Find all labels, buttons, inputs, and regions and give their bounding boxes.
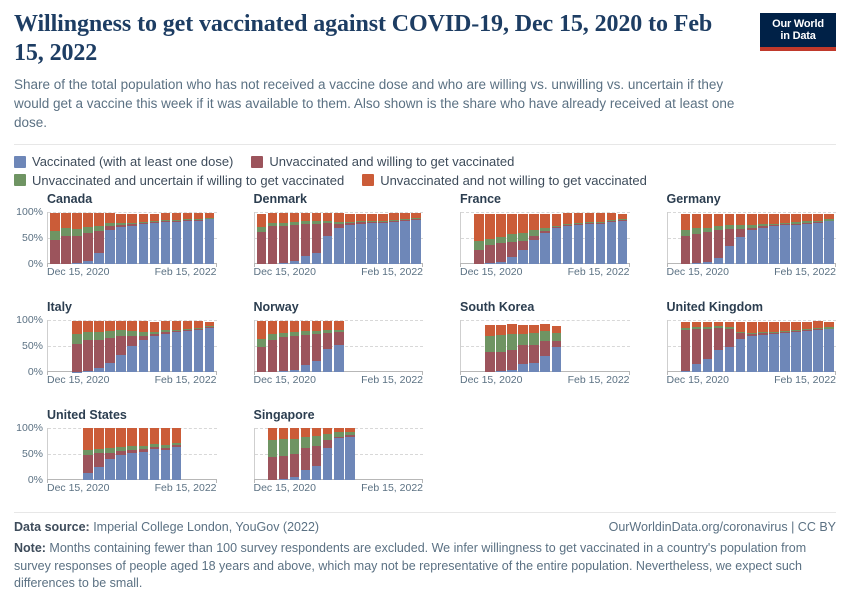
stacked-bar[interactable] [194,212,204,264]
stacked-bar[interactable] [161,320,171,372]
bar-segment-willing [268,340,278,372]
bar-segment-vaccinated [83,473,93,480]
bar-segment-not_willing [83,428,93,450]
bar-segment-vaccinated [323,448,333,480]
empty-bar-slot [585,320,595,372]
stacked-bar[interactable] [802,212,812,264]
y-axis-tick-0: 0% [28,367,43,378]
bar-segment-not_willing [563,213,573,223]
panel-title: United States [47,409,217,424]
stacked-bar[interactable] [290,320,300,372]
bar-segment-willing [301,448,311,470]
panel-title: Denmark [254,193,424,208]
stacked-bar[interactable] [105,212,115,264]
bar-segment-willing [703,232,713,262]
stacked-bar[interactable] [194,320,204,372]
bar-segment-not_willing [161,428,171,445]
bar-segment-not_willing [301,321,311,331]
bar-segment-not_willing [279,213,289,222]
stacked-bar[interactable] [94,212,104,264]
bar-segment-not_willing [802,322,812,329]
bar-segment-vaccinated [780,225,790,264]
empty-bar-slot [618,320,628,372]
stacked-bar[interactable] [540,320,550,372]
panel-title: France [460,193,630,208]
stacked-bar[interactable] [400,212,410,264]
x-axis-label-end: Feb 15, 2022 [774,375,836,386]
bar-segment-vaccinated [105,230,115,264]
bar-group [670,320,835,372]
bar-segment-vaccinated [813,223,823,265]
bar-segment-willing [474,250,484,265]
bar-segment-vaccinated [681,371,691,373]
plot-area [667,320,837,372]
bar-segment-not_willing [813,214,823,221]
stacked-bar[interactable] [356,212,366,264]
bar-segment-vaccinated [72,263,82,264]
stacked-bar[interactable] [703,320,713,372]
bar-segment-vaccinated [150,223,160,264]
bar-segment-not_willing [485,214,495,239]
bar-group [257,428,422,480]
bar-segment-uncertain [72,229,82,236]
plot-area: 100%50%0% [47,428,217,480]
stacked-bar[interactable] [714,212,724,264]
bar-segment-uncertain [518,334,528,344]
stacked-bar[interactable] [507,212,517,264]
bar-segment-vaccinated [824,221,834,264]
x-axis-label-end: Feb 15, 2022 [155,375,217,386]
bar-segment-not_willing [802,214,812,221]
stacked-bar[interactable] [301,212,311,264]
logo-line-2: in Data [762,30,834,42]
bar-segment-vaccinated [345,437,355,481]
bar-segment-not_willing [345,214,355,222]
bar-segment-not_willing [725,214,735,225]
stacked-bar[interactable] [552,212,562,264]
bar-segment-willing [507,242,517,257]
stacked-bar[interactable] [268,320,278,372]
bar-segment-not_willing [50,213,60,231]
legend-swatch-willing [251,156,263,168]
stacked-bar[interactable] [780,212,790,264]
bar-segment-vaccinated [692,364,702,372]
stacked-bar[interactable] [279,428,289,480]
bar-segment-uncertain [290,439,300,455]
stacked-bar[interactable] [334,428,344,480]
bar-segment-not_willing [279,428,289,439]
bar-segment-vaccinated [747,230,757,264]
empty-bar-slot [194,428,204,480]
bar-segment-vaccinated [585,224,595,264]
stacked-bar[interactable] [824,320,834,372]
stacked-bar[interactable] [172,428,182,480]
bar-segment-willing [279,337,289,371]
stacked-bar[interactable] [279,320,289,372]
stacked-bar[interactable] [378,212,388,264]
stacked-bar[interactable] [301,320,311,372]
stacked-bar[interactable] [736,320,746,372]
stacked-bar[interactable] [389,212,399,264]
stacked-bar[interactable] [116,320,126,372]
bar-segment-willing [50,240,60,264]
x-axis-labels: Dec 15, 2020Feb 15, 2022 [667,375,837,389]
bar-segment-vaccinated [529,240,539,264]
empty-bar-slot [378,428,388,480]
stacked-bar[interactable] [345,428,355,480]
empty-bar-slot [411,320,421,372]
stacked-bar[interactable] [139,212,149,264]
bar-segment-not_willing [150,428,160,444]
stacked-bar[interactable] [824,212,834,264]
stacked-bar[interactable] [323,428,333,480]
page-title: Willingness to get vaccinated against CO… [14,10,736,69]
bar-segment-not_willing [72,213,82,229]
bar-segment-not_willing [496,325,506,335]
stacked-bar[interactable] [334,212,344,264]
stacked-bar[interactable] [758,320,768,372]
bar-segment-uncertain [301,437,311,448]
stacked-bar[interactable] [769,212,779,264]
stacked-bar[interactable] [150,320,160,372]
bar-segment-not_willing [161,213,171,220]
legend-item-willing[interactable]: Unvaccinated and willing to get vaccinat… [251,154,514,170]
stacked-bar[interactable] [714,320,724,372]
stacked-bar[interactable] [161,212,171,264]
y-axis-tick-50: 50% [22,233,43,244]
x-axis-label-end: Feb 15, 2022 [155,267,217,278]
stacked-bar[interactable] [116,428,126,480]
stacked-bar[interactable] [345,212,355,264]
empty-bar-slot [596,320,606,372]
bar-segment-vaccinated [334,438,344,480]
stacked-bar[interactable] [681,212,691,264]
stacked-bar[interactable] [72,212,82,264]
stacked-bar[interactable] [105,428,115,480]
stacked-bar[interactable] [83,212,93,264]
legend-item-uncertain[interactable]: Unvaccinated and uncertain if willing to… [14,173,344,189]
stacked-bar[interactable] [703,212,713,264]
stacked-bar[interactable] [618,212,628,264]
x-axis-label-end: Feb 15, 2022 [568,267,630,278]
bar-segment-not_willing [268,428,278,439]
bar-segment-vaccinated [714,350,724,372]
stacked-bar[interactable] [50,212,60,264]
bar-segment-vaccinated [485,263,495,264]
y-axis-tick-100: 100% [16,315,43,326]
x-axis-labels: Dec 15, 2020Feb 15, 2022 [460,375,630,389]
bar-group [463,320,628,372]
chart-footer: Data source: Imperial College London, Yo… [14,512,836,592]
bar-segment-not_willing [301,213,311,221]
stacked-bar[interactable] [791,320,801,372]
bar-segment-vaccinated [105,363,115,372]
plot-area: 100%50%0% [47,212,217,264]
stacked-bar[interactable] [725,212,735,264]
bar-segment-willing [61,236,71,265]
bar-segment-vaccinated [323,236,333,264]
stacked-bar[interactable] [150,212,160,264]
stacked-bar[interactable] [367,212,377,264]
panel-title: Germany [667,193,837,208]
bar-group [257,212,422,264]
stacked-bar[interactable] [507,320,517,372]
stacked-bar[interactable] [127,320,137,372]
stacked-bar[interactable] [105,320,115,372]
stacked-bar[interactable] [474,212,484,264]
stacked-bar[interactable] [802,320,812,372]
bar-segment-not_willing [791,214,801,222]
bar-segment-willing [94,340,104,368]
stacked-bar[interactable] [529,212,539,264]
legend-item-vaccinated[interactable]: Vaccinated (with at least one dose) [14,154,233,170]
bar-segment-vaccinated [279,263,289,265]
bar-segment-not_willing [758,214,768,224]
stacked-bar[interactable] [290,428,300,480]
bar-group [50,428,215,480]
bar-segment-vaccinated [183,331,193,372]
legend-label-willing: Unvaccinated and willing to get vaccinat… [269,154,514,170]
stacked-bar[interactable] [290,212,300,264]
bar-segment-not_willing [518,325,528,334]
bar-segment-vaccinated [150,336,160,372]
stacked-bar[interactable] [83,320,93,372]
empty-bar-slot [367,428,377,480]
stacked-bar[interactable] [585,212,595,264]
bar-segment-not_willing [769,214,779,224]
stacked-bar[interactable] [312,212,322,264]
bar-segment-willing [725,329,735,348]
bar-segment-not_willing [529,325,539,333]
bar-segment-not_willing [127,321,137,330]
bar-segment-vaccinated [802,224,812,265]
stacked-bar[interactable] [205,212,215,264]
stacked-bar[interactable] [485,212,495,264]
stacked-bar[interactable] [127,212,137,264]
stacked-bar[interactable] [83,428,93,480]
stacked-bar[interactable] [681,320,691,372]
stacked-bar[interactable] [323,320,333,372]
bar-segment-vaccinated [496,371,506,372]
empty-bar-slot [463,212,473,264]
stacked-bar[interactable] [518,212,528,264]
bar-segment-not_willing [116,321,126,330]
stacked-bar[interactable] [205,320,215,372]
bar-segment-willing [257,232,267,264]
stacked-bar[interactable] [172,320,182,372]
bar-segment-not_willing [474,214,484,241]
stacked-bar[interactable] [574,212,584,264]
legend-item-not_willing[interactable]: Unvaccinated and not willing to get vacc… [362,173,647,189]
panel-title: Norway [254,301,424,316]
bar-segment-willing [83,233,93,261]
x-axis-labels: Dec 15, 2020Feb 15, 2022 [47,483,217,497]
stacked-bar[interactable] [150,428,160,480]
bar-segment-vaccinated [703,262,713,264]
our-world-in-data-logo[interactable]: Our World in Data [760,13,836,51]
bar-segment-not_willing [257,321,267,339]
stacked-bar[interactable] [61,212,71,264]
stacked-bar[interactable] [127,428,137,480]
stacked-bar[interactable] [747,320,757,372]
x-axis-label-end: Feb 15, 2022 [568,375,630,386]
bar-segment-not_willing [529,214,539,230]
bar-segment-vaccinated [105,459,115,480]
panel-denmark: DenmarkDec 15, 2020Feb 15, 2022 [221,193,424,301]
stacked-bar[interactable] [183,320,193,372]
panel-title: Canada [47,193,217,208]
stacked-bar[interactable] [758,212,768,264]
bar-segment-not_willing [813,321,823,328]
empty-bar-slot [574,320,584,372]
bar-segment-not_willing [758,322,768,332]
bar-segment-vaccinated [139,452,149,481]
panel-title: Italy [47,301,217,316]
bar-segment-willing [692,329,702,365]
bar-segment-vaccinated [769,334,779,372]
bar-group [463,212,628,264]
bar-segment-uncertain [257,339,267,346]
empty-bar-slot [670,212,680,264]
y-axis-tick-0: 0% [28,259,43,270]
bar-segment-willing [496,352,506,371]
stacked-bar[interactable] [540,212,550,264]
stacked-bar[interactable] [552,320,562,372]
bar-segment-uncertain [94,332,104,340]
bar-segment-vaccinated [94,253,104,264]
stacked-bar[interactable] [312,428,322,480]
stacked-bar[interactable] [268,428,278,480]
bar-segment-willing [312,446,322,466]
bar-segment-vaccinated [574,225,584,265]
bar-segment-not_willing [703,214,713,229]
x-axis-label-start: Dec 15, 2020 [47,267,109,278]
bar-segment-vaccinated [389,222,399,265]
stacked-bar[interactable] [607,212,617,264]
bar-segment-vaccinated [769,226,779,264]
bar-segment-willing [301,335,311,365]
stacked-bar[interactable] [813,320,823,372]
legend-label-uncertain: Unvaccinated and uncertain if willing to… [32,173,344,189]
bar-segment-vaccinated [356,224,366,265]
bar-segment-vaccinated [824,329,834,372]
bar-segment-not_willing [736,214,746,225]
stacked-bar[interactable] [312,320,322,372]
bar-segment-vaccinated [703,359,713,373]
stacked-bar[interactable] [268,212,278,264]
stacked-bar[interactable] [518,320,528,372]
bar-group [50,212,215,264]
stacked-bar[interactable] [94,428,104,480]
bar-segment-vaccinated [813,330,823,372]
stacked-bar[interactable] [529,320,539,372]
x-axis-label-end: Feb 15, 2022 [774,267,836,278]
bar-segment-not_willing [139,214,149,222]
stacked-bar[interactable] [334,320,344,372]
bar-segment-vaccinated [83,261,93,265]
stacked-bar[interactable] [692,320,702,372]
bar-segment-not_willing [172,321,182,329]
bar-segment-willing [83,340,93,370]
bar-segment-vaccinated [172,222,182,265]
bar-segment-vaccinated [116,355,126,372]
bar-segment-vaccinated [367,223,377,264]
attribution-link[interactable]: OurWorldinData.org/coronavirus | CC BY [609,520,836,534]
bar-segment-uncertain [72,334,82,344]
stacked-bar[interactable] [769,320,779,372]
bar-segment-vaccinated [618,221,628,265]
bar-segment-not_willing [290,321,300,332]
bar-segment-not_willing [367,214,377,221]
chart-header: Willingness to get vaccinated against CO… [14,10,836,132]
stacked-bar[interactable] [485,320,495,372]
panel-france: FranceDec 15, 2020Feb 15, 2022 [427,193,630,301]
bar-segment-not_willing [116,214,126,223]
bar-segment-vaccinated [791,332,801,372]
stacked-bar[interactable] [780,320,790,372]
empty-bar-slot [607,320,617,372]
stacked-bar[interactable] [257,320,267,372]
stacked-bar[interactable] [791,212,801,264]
stacked-bar[interactable] [747,212,757,264]
stacked-bar[interactable] [139,320,149,372]
stacked-bar[interactable] [139,428,149,480]
stacked-bar[interactable] [411,212,421,264]
stacked-bar[interactable] [301,428,311,480]
bar-segment-uncertain [279,439,289,456]
bar-segment-vaccinated [529,363,539,372]
empty-bar-slot [205,428,215,480]
bar-segment-not_willing [747,214,757,225]
bar-segment-willing [323,223,333,237]
stacked-bar[interactable] [72,320,82,372]
stacked-bar[interactable] [257,212,267,264]
stacked-bar[interactable] [725,320,735,372]
stacked-bar[interactable] [692,212,702,264]
legend-swatch-uncertain [14,174,26,186]
x-axis-label-end: Feb 15, 2022 [361,483,423,494]
stacked-bar[interactable] [94,320,104,372]
bar-segment-uncertain [83,332,93,340]
panel-south-korea: South KoreaDec 15, 2020Feb 15, 2022 [427,301,630,409]
stacked-bar[interactable] [183,212,193,264]
stacked-bar[interactable] [736,212,746,264]
bar-segment-vaccinated [127,453,137,480]
stacked-bar[interactable] [596,212,606,264]
stacked-bar[interactable] [813,212,823,264]
x-axis-labels: Dec 15, 2020Feb 15, 2022 [460,267,630,281]
stacked-bar[interactable] [172,212,182,264]
stacked-bar[interactable] [116,212,126,264]
bar-segment-willing [681,330,691,371]
plot-area [460,212,630,264]
legend-row: Vaccinated (with at least one dose)Unvac… [14,154,836,170]
bar-segment-not_willing [681,214,691,231]
stacked-bar[interactable] [161,428,171,480]
stacked-bar[interactable] [496,320,506,372]
footer-source-row: Data source: Imperial College London, Yo… [14,520,836,534]
bar-segment-willing [290,454,300,477]
stacked-bar[interactable] [323,212,333,264]
stacked-bar[interactable] [279,212,289,264]
bar-segment-vaccinated [552,228,562,264]
bar-segment-not_willing [323,321,333,329]
stacked-bar[interactable] [563,212,573,264]
x-axis-label-start: Dec 15, 2020 [47,375,109,386]
stacked-bar[interactable] [496,212,506,264]
bar-segment-willing [94,453,104,467]
bar-segment-vaccinated [290,261,300,264]
